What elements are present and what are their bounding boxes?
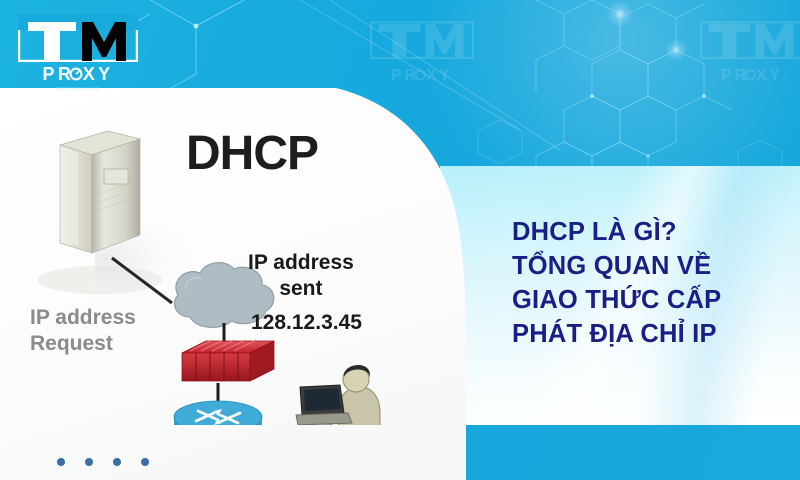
brand-logo: PR XY https://tmproxy.com xyxy=(18,14,138,91)
label-sent-line2: sent xyxy=(248,276,354,302)
server-tower-icon xyxy=(60,131,140,253)
dhcp-network-diagram xyxy=(0,95,450,425)
label-ip-address-value: 128.12.3.45 xyxy=(251,310,362,336)
watermark-tm-mark xyxy=(370,16,474,60)
label-sent-line1: IP address xyxy=(248,251,354,274)
switch-icon xyxy=(182,340,274,381)
person-laptop-icon xyxy=(296,365,384,425)
logo-tm-mark xyxy=(18,14,138,62)
title-line-1: DHCP LÀ GÌ? xyxy=(512,216,800,250)
label-request-line1: IP address xyxy=(30,306,136,329)
dot-grid-decor xyxy=(56,457,166,480)
watermark-logo-right: PR XY xyxy=(700,16,800,90)
watermark-tm-mark-right xyxy=(700,16,800,60)
logo-proxy-wordmark: PR XY xyxy=(18,63,138,85)
router-icon xyxy=(174,401,262,425)
watermark-proxy-wordmark: PR XY xyxy=(370,65,474,85)
title-line-2: TỔNG QUAN VỀ xyxy=(512,250,800,284)
svg-text:PR XY: PR XY xyxy=(42,64,113,84)
watermark-proxy-wordmark-right: PR XY xyxy=(700,65,800,85)
poster-canvas: PR XY https://tmproxy.com PR XY PR XY xyxy=(0,0,800,480)
label-request-line2: Request xyxy=(30,331,136,357)
poster-title: DHCP LÀ GÌ? TỔNG QUAN VỀ GIAO THỨC CẤP P… xyxy=(512,216,800,352)
logo-url-text: https://tmproxy.com xyxy=(18,86,138,91)
label-ip-address-request: IP address Request xyxy=(30,305,136,356)
title-line-3: GIAO THỨC CẤP xyxy=(512,284,800,318)
label-ip-address-sent: IP address sent xyxy=(248,250,354,301)
watermark-logo-center: PR XY xyxy=(370,16,474,90)
title-line-4: PHÁT ĐỊA CHỈ IP xyxy=(512,318,800,352)
